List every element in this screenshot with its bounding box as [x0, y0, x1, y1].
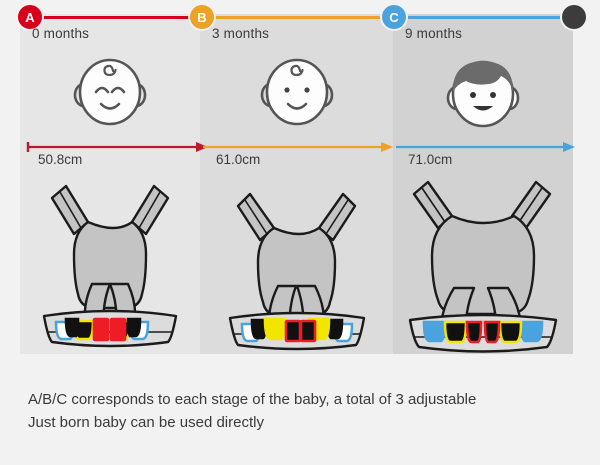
toddler-face-icon: [393, 48, 573, 136]
measurement-arrows-icon: [0, 136, 600, 156]
baby-carrier-icon-stage-c: [393, 176, 573, 356]
stage-timeline: A B C 0 months 3 months 9 months: [0, 0, 600, 34]
caption-line-2: Just born baby can be used directly: [28, 412, 572, 435]
timeline-segment-c: [393, 16, 575, 19]
infographic-root: A B C 0 months 3 months 9 months: [0, 0, 600, 465]
measurement-label-b: 61.0cm: [216, 152, 260, 167]
stage-marker-a-label: A: [25, 11, 34, 24]
stage-age-label-c: 9 months: [405, 26, 462, 41]
stage-marker-b-icon[interactable]: B: [190, 5, 214, 29]
stage-marker-b-label: B: [197, 11, 206, 24]
caption-block: A/B/C corresponds to each stage of the b…: [0, 383, 600, 434]
baby-carrier-icon-stage-a: [20, 176, 200, 356]
infant-face-icon: [200, 48, 393, 136]
caption-line-1: A/B/C corresponds to each stage of the b…: [28, 389, 572, 412]
newborn-face-icon: [20, 48, 200, 136]
measurement-label-a: 50.8cm: [38, 152, 82, 167]
timeline-segment-a: [30, 16, 202, 19]
timeline-segment-b: [200, 16, 395, 19]
stage-age-label-a: 0 months: [32, 26, 89, 41]
stage-marker-c-icon[interactable]: C: [382, 5, 406, 29]
timeline-end-dot-icon: [562, 5, 586, 29]
stage-marker-c-label: C: [389, 11, 398, 24]
stage-age-label-b: 3 months: [212, 26, 269, 41]
measurement-label-c: 71.0cm: [408, 152, 452, 167]
baby-carrier-icon-stage-b: [200, 176, 393, 356]
